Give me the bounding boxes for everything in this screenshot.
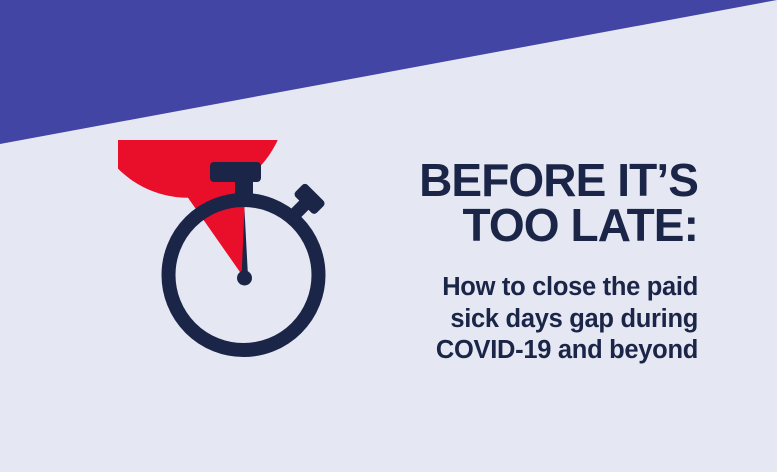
poster-text-block: BEFORE IT’S TOO LATE: How to close the p…: [372, 158, 698, 367]
page-subtitle: How to close the paid sick days gap duri…: [372, 272, 698, 367]
diagonal-purple-banner: [0, 0, 777, 150]
page-title: BEFORE IT’S TOO LATE:: [372, 158, 698, 248]
stopwatch-icon: [118, 140, 368, 390]
poster-canvas: BEFORE IT’S TOO LATE: How to close the p…: [0, 0, 777, 472]
stopwatch-hub: [237, 271, 252, 286]
stopwatch-crown-button: [210, 162, 261, 182]
